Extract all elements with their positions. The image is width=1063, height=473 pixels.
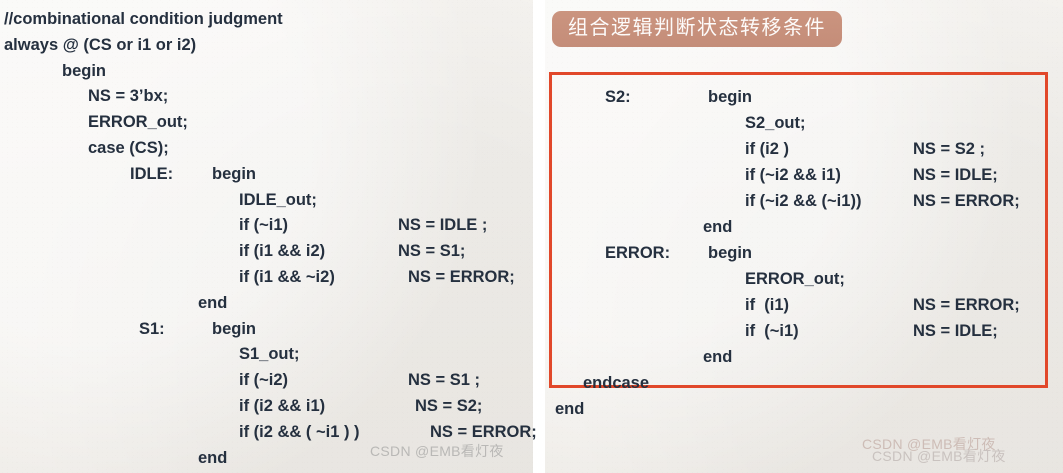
code-line: NS = 3’bx; [0, 83, 533, 109]
code-line-text: if (i1) [745, 292, 789, 318]
code-line-assignment: NS = IDLE; [913, 318, 998, 344]
code-line-text: if (i1 && ~i2) [239, 264, 335, 290]
code-line: S2:begin [545, 84, 1063, 110]
code-line-text: if (i2 ) [745, 136, 789, 162]
code-line-text: NS = 3’bx; [88, 83, 168, 109]
code-line: if (i1 && ~i2)NS = ERROR; [0, 264, 533, 290]
code-line-text: end [703, 214, 732, 240]
code-line-text: //combinational condition judgment [4, 6, 283, 32]
left-code-panel: //combinational condition judgmentalways… [0, 0, 533, 473]
code-line-text: if (i2 && i1) [239, 393, 325, 419]
code-line-assignment: NS = ERROR; [408, 264, 515, 290]
code-line-text: ERROR: [605, 240, 670, 266]
code-line-text: always @ (CS or i1 or i2) [4, 32, 196, 58]
left-code-block: //combinational condition judgmentalways… [0, 0, 533, 473]
code-line: S2_out; [545, 110, 1063, 136]
code-line-assignment: begin [212, 316, 256, 342]
code-line: if (~i2 && (~i1))NS = ERROR; [545, 188, 1063, 214]
code-line-text: ERROR_out; [88, 109, 188, 135]
code-line-text: case (CS); [88, 135, 169, 161]
code-line-text: if (i1 && i2) [239, 238, 325, 264]
code-line-text: end [198, 290, 227, 316]
watermark-left: CSDN @EMB看灯夜 [370, 441, 504, 461]
code-line-assignment: NS = S1; [398, 238, 465, 264]
code-line-assignment: NS = ERROR; [913, 292, 1020, 318]
code-line-text: if (i2 && ( ~i1 ) ) [239, 419, 360, 445]
code-line: end [545, 396, 1063, 422]
right-code-block: S2:beginS2_out;if (i2 )NS = S2 ;if (~i2 … [545, 0, 1063, 473]
code-line-text: if (~i2 && (~i1)) [745, 188, 861, 214]
code-line: ERROR:begin [545, 240, 1063, 266]
code-line-assignment: begin [212, 161, 256, 187]
code-line: always @ (CS or i1 or i2) [0, 32, 533, 58]
code-line: //combinational condition judgment [0, 6, 533, 32]
code-line: begin [0, 58, 533, 84]
code-line-text: ERROR_out; [745, 266, 845, 292]
code-line: S1:begin [0, 316, 533, 342]
code-line: ERROR_out; [0, 109, 533, 135]
code-line-text: if (~i2) [239, 367, 288, 393]
code-line-text: if (~i1) [239, 212, 288, 238]
code-line: endcase [545, 370, 1063, 396]
code-line: if (i1)NS = ERROR; [545, 292, 1063, 318]
code-line-text: S1_out; [239, 341, 300, 367]
code-line-text: end [198, 445, 227, 471]
code-line-assignment: begin [708, 84, 752, 110]
code-line-text: IDLE_out; [239, 187, 317, 213]
code-line-assignment: NS = IDLE; [913, 162, 998, 188]
code-line: if (i2 && i1)NS = S2; [0, 393, 533, 419]
code-line: end [545, 344, 1063, 370]
code-line-text: if (~i2 && i1) [745, 162, 841, 188]
code-line: end [545, 214, 1063, 240]
code-line-text: S2_out; [745, 110, 806, 136]
code-line-assignment: NS = S2 ; [913, 136, 985, 162]
code-line: IDLE:begin [0, 161, 533, 187]
code-line: S1_out; [0, 341, 533, 367]
code-line-assignment: NS = S1 ; [408, 367, 480, 393]
code-line-text: S2: [605, 84, 631, 110]
watermark-right-front: CSDN @EMB看灯夜 [872, 446, 1006, 466]
code-line-assignment: NS = IDLE ; [398, 212, 487, 238]
code-line-assignment: NS = S2; [415, 393, 482, 419]
code-line: if (~i2 && i1)NS = IDLE; [545, 162, 1063, 188]
code-line: end [0, 290, 533, 316]
code-line-assignment: begin [708, 240, 752, 266]
code-line-text: IDLE: [130, 161, 173, 187]
code-line-text: begin [62, 58, 106, 84]
code-line: ERROR_out; [545, 266, 1063, 292]
code-line: if (i2 )NS = S2 ; [545, 136, 1063, 162]
code-line-text: end [555, 396, 584, 422]
code-line-text: endcase [583, 370, 649, 396]
code-line: if (~i2)NS = S1 ; [0, 367, 533, 393]
code-line-text: end [703, 344, 732, 370]
slide-screenshot: //combinational condition judgmentalways… [0, 0, 1063, 473]
code-line-text: S1: [139, 316, 165, 342]
code-line: IDLE_out; [0, 187, 533, 213]
code-line: if (i1 && i2)NS = S1; [0, 238, 533, 264]
code-line-text: if (~i1) [745, 318, 799, 344]
code-line: case (CS); [0, 135, 533, 161]
code-line-assignment: NS = ERROR; [913, 188, 1020, 214]
code-line: if (~i1)NS = IDLE ; [0, 212, 533, 238]
code-line: if (~i1)NS = IDLE; [545, 318, 1063, 344]
